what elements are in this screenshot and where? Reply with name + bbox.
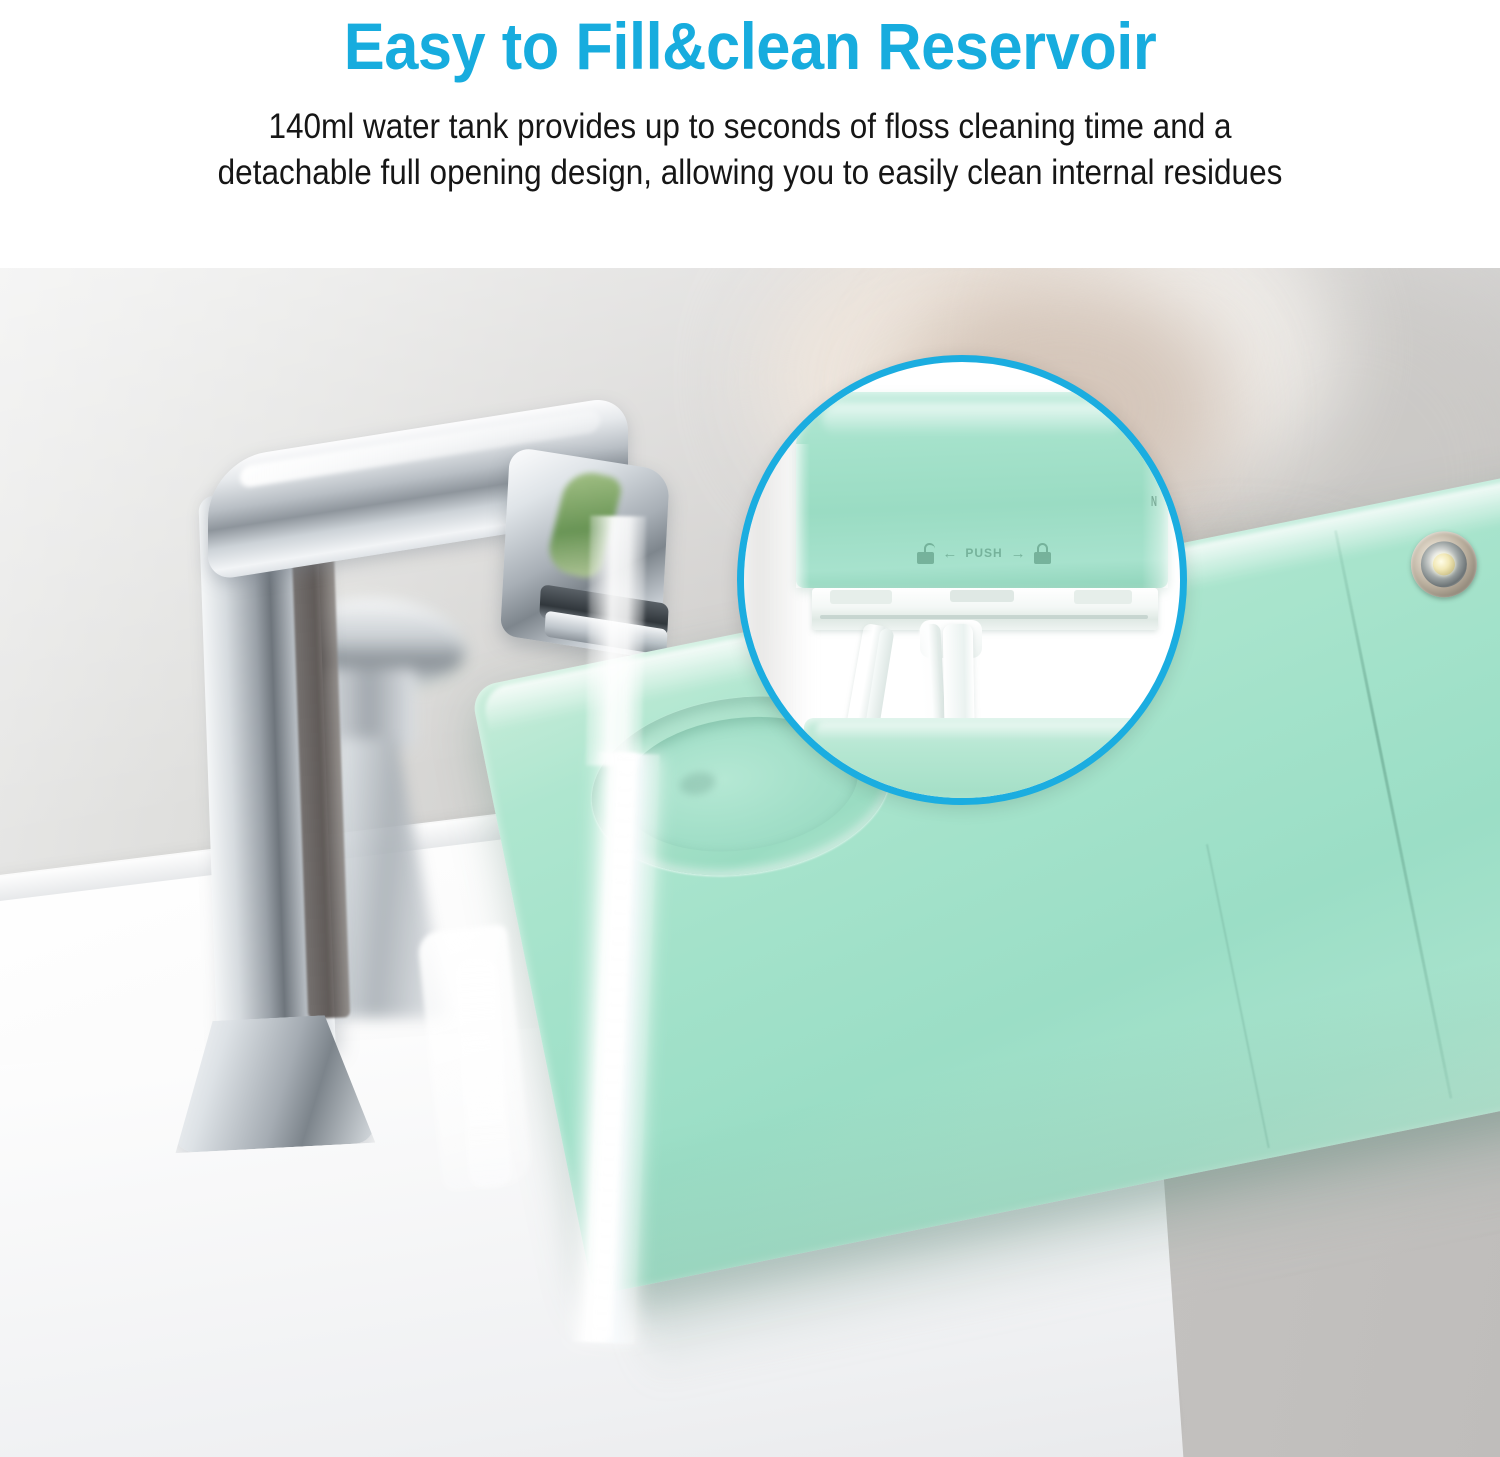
brand-mark: N (1146, 494, 1168, 516)
reservoir-tank-highlight (816, 722, 1152, 740)
lock-icon (1034, 543, 1051, 564)
header-banner: Easy to Fill&clean Reservoir 140ml water… (0, 0, 1500, 268)
reservoir-cap-highlight (822, 402, 1122, 436)
faucet-base (169, 1013, 376, 1153)
detail-callout-circle: N ← PUSH → (737, 355, 1187, 805)
collar-notch (830, 590, 892, 604)
cap-push-lock-marking: ← PUSH → (884, 538, 1084, 568)
unlock-icon (917, 543, 934, 564)
page-title: Easy to Fill&clean Reservoir (53, 4, 1448, 88)
left-arrow-icon: ← (942, 546, 957, 561)
collar-notch (1074, 590, 1132, 604)
push-label: PUSH (965, 546, 1002, 560)
reservoir-cap-edge (796, 444, 810, 588)
water-stream-upper (586, 516, 646, 767)
brand-mark-text: N (1151, 494, 1163, 509)
collar-seam (820, 615, 1148, 619)
product-photo: ← PUSH → N (0, 268, 1500, 1457)
collar-notch (950, 590, 1014, 602)
right-arrow-icon: → (1011, 546, 1026, 561)
page-subtitle: 140ml water tank provides up to seconds … (210, 104, 1290, 196)
